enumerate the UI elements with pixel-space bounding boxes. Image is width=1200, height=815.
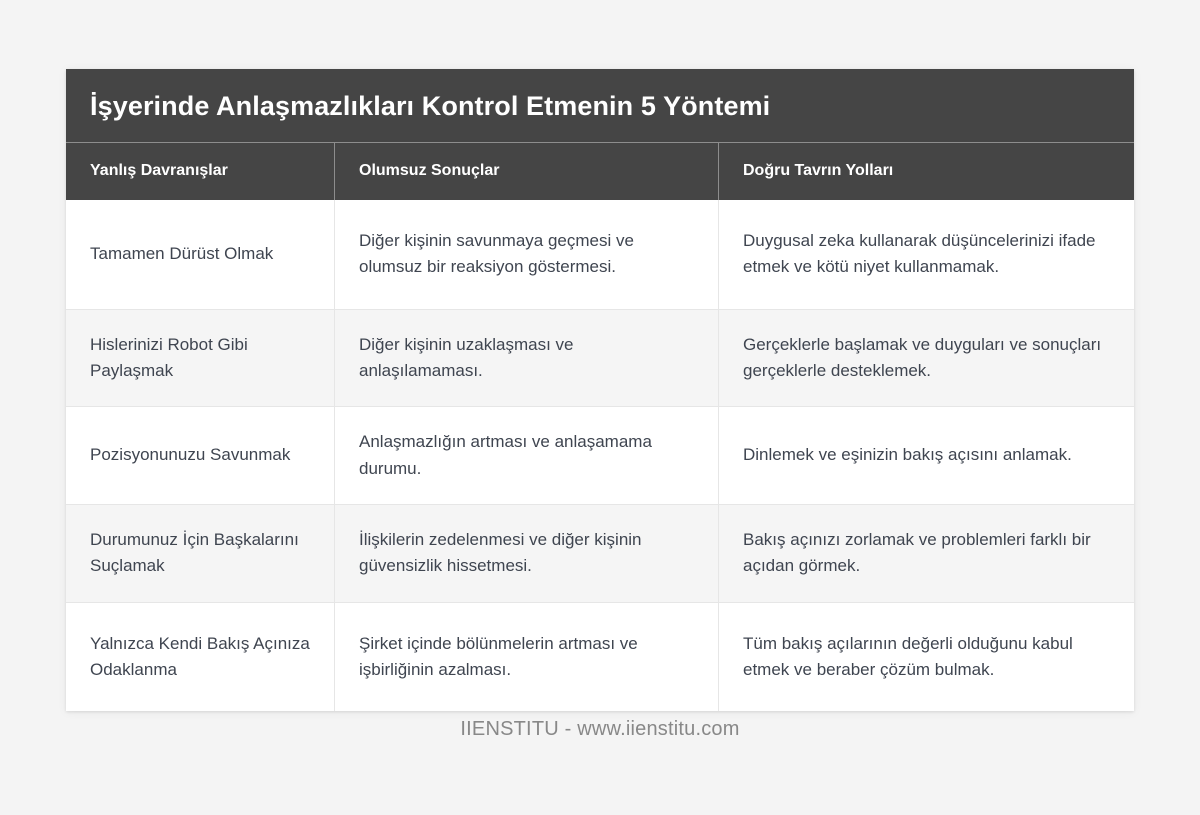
footer-attribution: IIENSTITU - www.iienstitu.com bbox=[0, 718, 1200, 741]
cell-right-approach: Dinlemek ve eşinizin bakış açısını anlam… bbox=[719, 407, 1134, 504]
table-row: Durumunuz İçin Başkalarını Suçlamak İliş… bbox=[66, 505, 1134, 603]
table-title-bar: İşyerinde Anlaşmazlıkları Kontrol Etmeni… bbox=[66, 69, 1134, 143]
cell-negative-result: Anlaşmazlığın artması ve anlaşamama duru… bbox=[335, 407, 719, 504]
cell-negative-result: Diğer kişinin uzaklaşması ve anlaşılamam… bbox=[335, 310, 719, 407]
cell-negative-result: Diğer kişinin savunmaya geçmesi ve olums… bbox=[335, 200, 719, 309]
page-title: İşyerinde Anlaşmazlıkları Kontrol Etmeni… bbox=[90, 91, 1110, 122]
table-row: Hislerinizi Robot Gibi Paylaşmak Diğer k… bbox=[66, 310, 1134, 408]
cell-wrong-behavior: Pozisyonunuzu Savunmak bbox=[66, 407, 335, 504]
cell-negative-result: Şirket içinde bölünmelerin artması ve iş… bbox=[335, 603, 719, 712]
cell-right-approach: Gerçeklerle başlamak ve duyguları ve son… bbox=[719, 310, 1134, 407]
cell-right-approach: Duygusal zeka kullanarak düşüncelerinizi… bbox=[719, 200, 1134, 309]
table-header-row: Yanlış Davranışlar Olumsuz Sonuçlar Doğr… bbox=[66, 143, 1134, 200]
cell-wrong-behavior: Yalnızca Kendi Bakış Açınıza Odaklanma bbox=[66, 603, 335, 712]
column-header-wrong-behaviors: Yanlış Davranışlar bbox=[66, 143, 335, 200]
cell-negative-result: İlişkilerin zedelenmesi ve diğer kişinin… bbox=[335, 505, 719, 602]
cell-wrong-behavior: Tamamen Dürüst Olmak bbox=[66, 200, 335, 309]
table-row: Tamamen Dürüst Olmak Diğer kişinin savun… bbox=[66, 200, 1134, 310]
column-header-negative-results: Olumsuz Sonuçlar bbox=[335, 143, 719, 200]
cell-right-approach: Bakış açınızı zorlamak ve problemleri fa… bbox=[719, 505, 1134, 602]
cell-wrong-behavior: Durumunuz İçin Başkalarını Suçlamak bbox=[66, 505, 335, 602]
page-root: İşyerinde Anlaşmazlıkları Kontrol Etmeni… bbox=[0, 0, 1200, 815]
cell-right-approach: Tüm bakış açılarının değerli olduğunu ka… bbox=[719, 603, 1134, 712]
table-row: Pozisyonunuzu Savunmak Anlaşmazlığın art… bbox=[66, 407, 1134, 505]
info-table-card: İşyerinde Anlaşmazlıkları Kontrol Etmeni… bbox=[66, 69, 1134, 711]
column-header-right-approaches: Doğru Tavrın Yolları bbox=[719, 143, 1134, 200]
cell-wrong-behavior: Hislerinizi Robot Gibi Paylaşmak bbox=[66, 310, 335, 407]
table-row: Yalnızca Kendi Bakış Açınıza Odaklanma Ş… bbox=[66, 603, 1134, 712]
